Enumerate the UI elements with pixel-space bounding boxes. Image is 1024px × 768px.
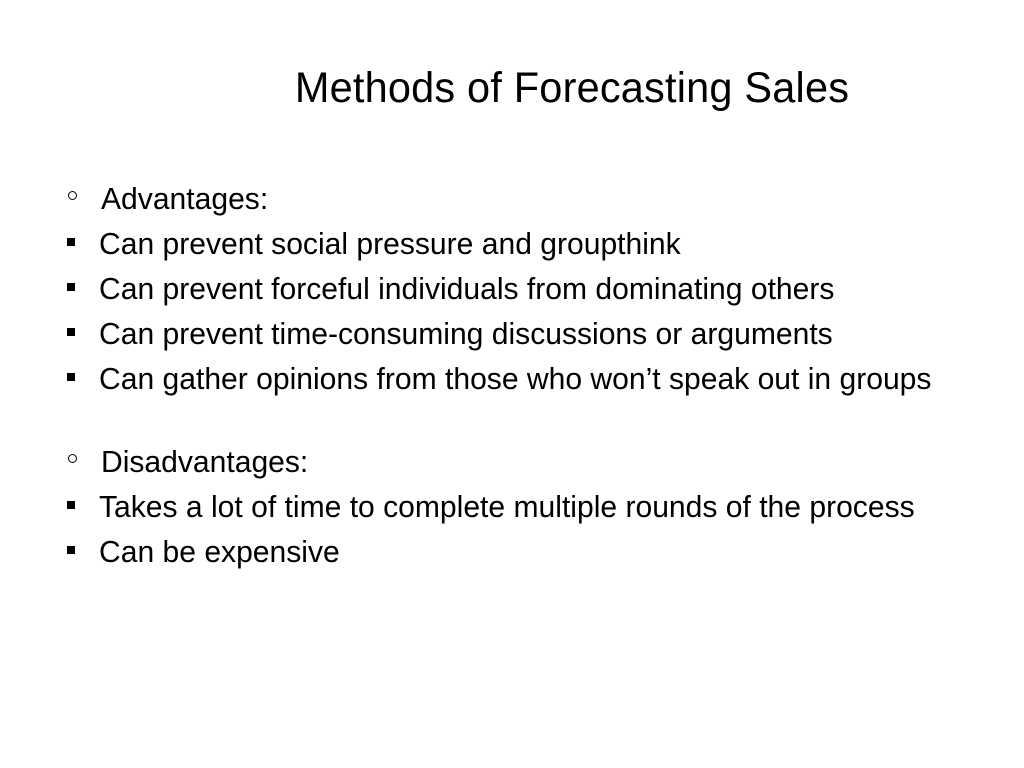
list-item: Advantages: <box>0 176 1024 221</box>
slide: Methods of Forecasting Sales Advantages:… <box>0 0 1024 768</box>
list-spacer <box>0 401 1024 439</box>
square-bullet-icon <box>67 546 75 554</box>
list-item: Can prevent forceful individuals from do… <box>0 266 1024 311</box>
list-item-label: Can prevent forceful individuals from do… <box>99 266 834 311</box>
square-bullet-icon <box>67 501 75 509</box>
list-item: Can be expensive <box>0 529 1024 574</box>
circle-bullet-icon <box>68 191 77 200</box>
list-item-label: Can prevent time-consuming discussions o… <box>99 311 833 356</box>
square-bullet-icon <box>67 373 75 381</box>
list-item: Can gather opinions from those who won’t… <box>0 356 1024 401</box>
list-item-label: Advantages: <box>101 176 268 221</box>
list-item-label: Can prevent social pressure and groupthi… <box>99 221 681 266</box>
list-item-label: Can gather opinions from those who won’t… <box>99 356 931 401</box>
bullet-list: Advantages: Can prevent social pressure … <box>0 176 1024 574</box>
list-item-label: Can be expensive <box>99 529 340 574</box>
list-item: Can prevent time-consuming discussions o… <box>0 311 1024 356</box>
page-title: Methods of Forecasting Sales <box>90 62 1024 114</box>
list-item: Takes a lot of time to complete multiple… <box>0 484 1024 529</box>
list-item: Can prevent social pressure and groupthi… <box>0 221 1024 266</box>
list-item-label: Takes a lot of time to complete multiple… <box>99 484 915 529</box>
square-bullet-icon <box>67 238 75 246</box>
square-bullet-icon <box>67 283 75 291</box>
list-item-label: Disadvantages: <box>101 439 308 484</box>
list-item: Disadvantages: <box>0 439 1024 484</box>
square-bullet-icon <box>67 328 75 336</box>
circle-bullet-icon <box>68 454 77 463</box>
